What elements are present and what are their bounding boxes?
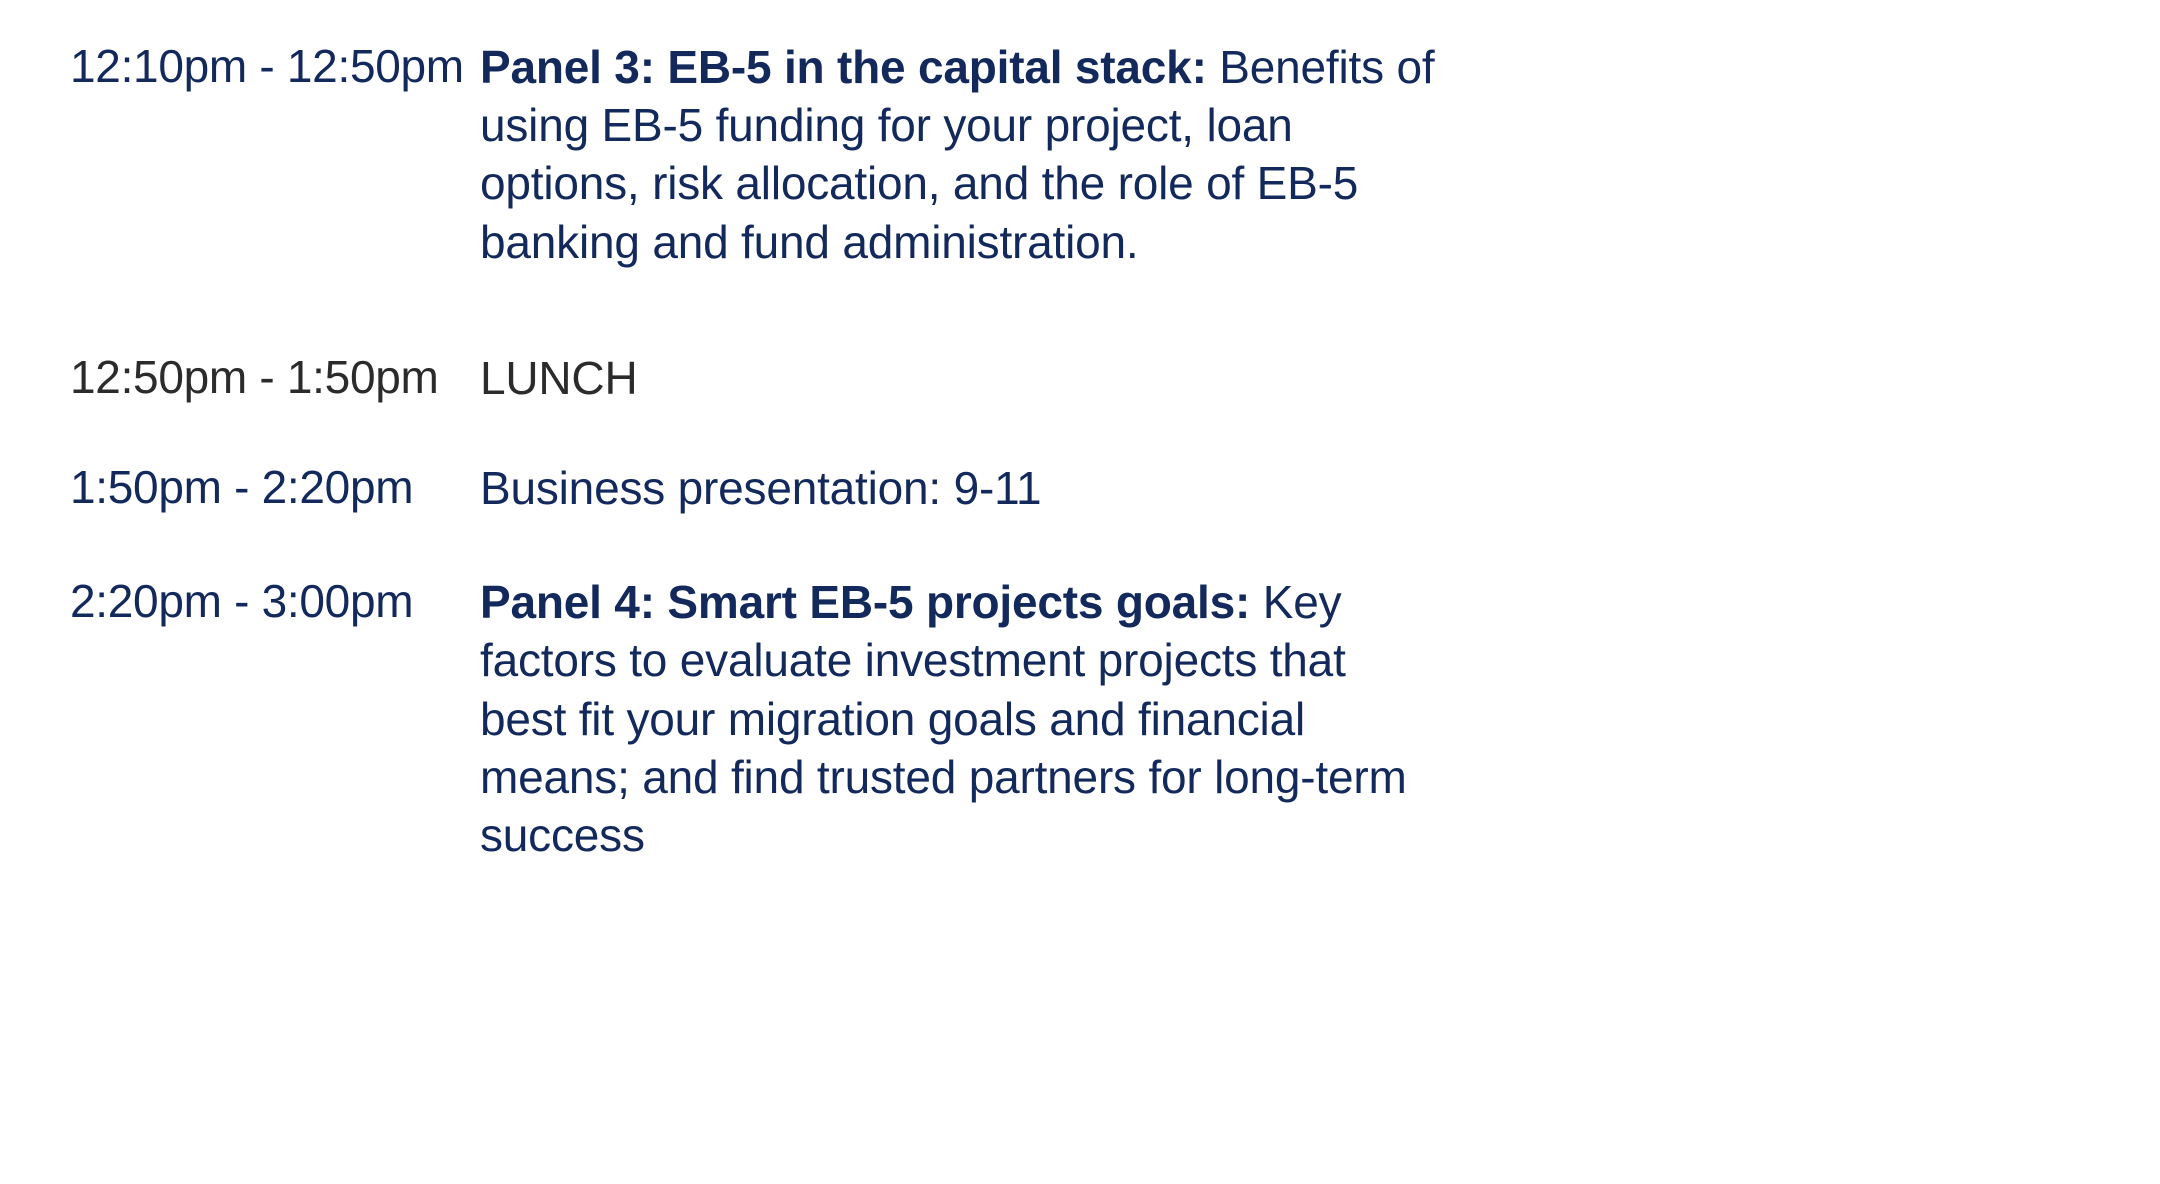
session-description: Panel 4: Smart EB-5 projects goals: Key … — [480, 573, 1440, 864]
table-row: 1:50pm - 2:20pm Business presentation: 9… — [0, 459, 2160, 517]
session-time: 12:50pm - 1:50pm — [0, 349, 480, 407]
table-row: 2:20pm - 3:00pm Panel 4: Smart EB-5 proj… — [0, 573, 2160, 864]
table-row: 12:10pm - 12:50pm Panel 3: EB-5 in the c… — [0, 38, 2160, 271]
agenda-schedule-table: 12:10pm - 12:50pm Panel 3: EB-5 in the c… — [0, 0, 2160, 1184]
session-description: Business presentation: 9-11 — [480, 459, 1440, 517]
session-body: Business presentation: 9-11 — [480, 462, 1041, 514]
session-body: LUNCH — [480, 352, 637, 404]
session-time: 12:10pm - 12:50pm — [0, 38, 480, 96]
session-description: LUNCH — [480, 349, 1440, 407]
table-row: 12:50pm - 1:50pm LUNCH — [0, 349, 2160, 407]
session-time: 1:50pm - 2:20pm — [0, 459, 480, 517]
session-title: Panel 4: Smart EB-5 projects goals: — [480, 576, 1250, 628]
session-time: 2:20pm - 3:00pm — [0, 573, 480, 631]
session-description: Panel 3: EB-5 in the capital stack: Bene… — [480, 38, 1440, 271]
session-title: Panel 3: EB-5 in the capital stack: — [480, 41, 1207, 93]
